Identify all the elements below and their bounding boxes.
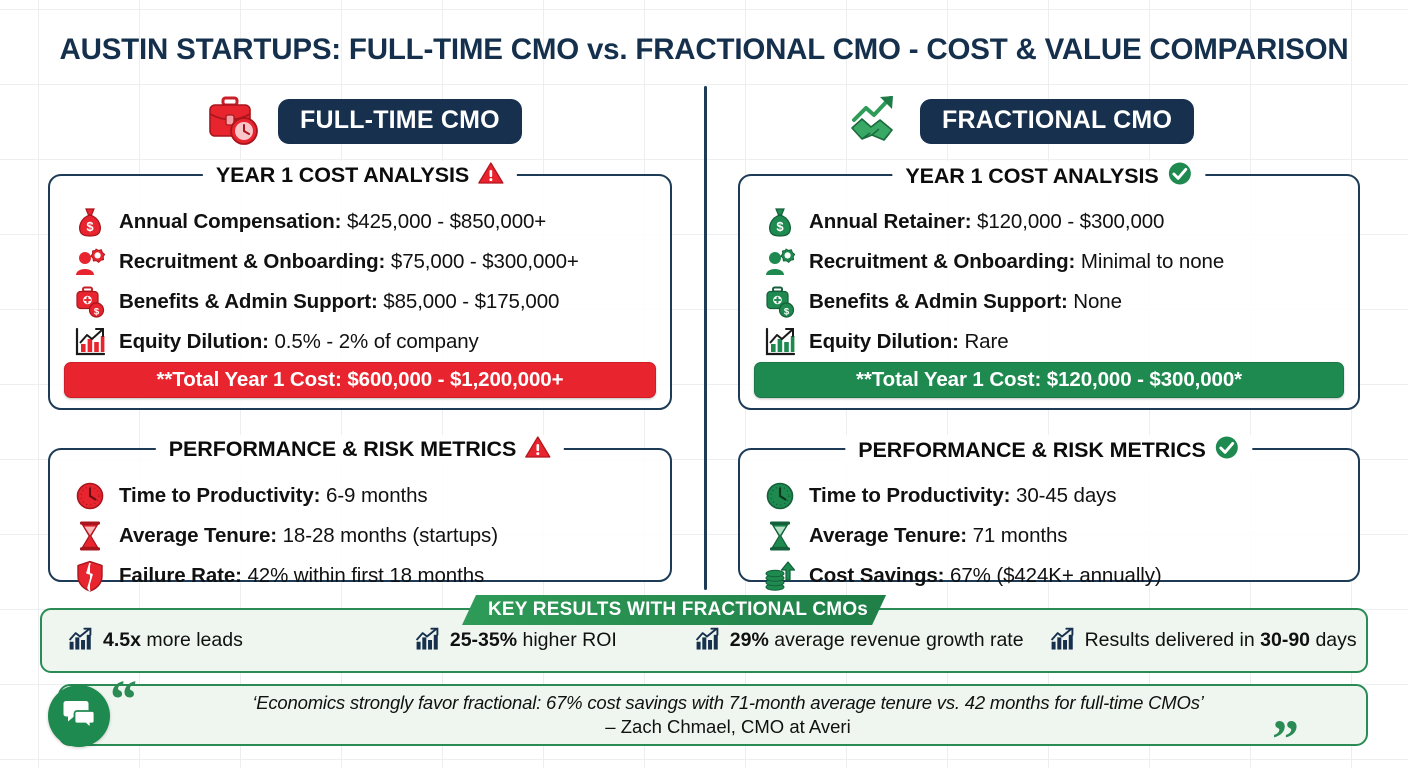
right-cost-analysis-card: YEAR 1 COST ANALYSIS $ Annual Retainer: … bbox=[738, 174, 1360, 410]
list-item-text: Benefits & Admin Support: $85,000 - $175… bbox=[119, 290, 559, 314]
right-total-cost-bar: **Total Year 1 Cost: $120,000 - $300,000… bbox=[754, 362, 1344, 398]
list-item: Average Tenure: 71 months bbox=[740, 516, 1358, 556]
row-value: 18-28 months (startups) bbox=[283, 524, 498, 547]
right-performance-metrics-card: PERFORMANCE & RISK METRICS Time to Produ… bbox=[738, 448, 1360, 582]
key-result-rest: average revenue growth rate bbox=[774, 629, 1023, 651]
list-item-text: Average Tenure: 18-28 months (startups) bbox=[119, 524, 498, 548]
right-cost-legend-text: YEAR 1 COST ANALYSIS bbox=[905, 164, 1158, 189]
key-result-item: 29% average revenue growth rate bbox=[693, 627, 1024, 655]
warning-triangle-icon bbox=[525, 435, 551, 464]
list-item: $ Annual Retainer: $120,000 - $300,000 bbox=[740, 202, 1358, 242]
left-cost-legend: YEAR 1 COST ANALYSIS bbox=[203, 161, 517, 190]
list-item-text: Annual Compensation: $425,000 - $850,000… bbox=[119, 210, 546, 234]
row-label: Average Tenure: bbox=[119, 524, 277, 547]
right-column-header: FRACTIONAL CMO bbox=[846, 94, 1194, 148]
row-label: Time to Productivity: bbox=[809, 484, 1010, 507]
left-cost-analysis-card: YEAR 1 COST ANALYSIS $ Annual Co bbox=[48, 174, 672, 410]
list-item-text: Recruitment & Onboarding: Minimal to non… bbox=[809, 250, 1224, 274]
left-metrics-rows: Time to Productivity: 6-9 months Average… bbox=[50, 450, 670, 596]
money-bag-icon: $ bbox=[763, 205, 797, 239]
clock-icon bbox=[73, 479, 107, 513]
left-total-cost-bar: **Total Year 1 Cost: $600,000 - $1,200,0… bbox=[64, 362, 656, 398]
key-result-item: 4.5x more leads bbox=[66, 627, 243, 655]
row-label: Equity Dilution: bbox=[809, 330, 959, 353]
list-item: Time to Productivity: 6-9 months bbox=[50, 476, 670, 516]
list-item-text: Cost Savings: 67% ($424K+ annually) bbox=[809, 564, 1162, 588]
recruitment-person-gear-icon bbox=[73, 245, 107, 279]
row-value: 30-45 days bbox=[1016, 484, 1116, 507]
list-item: $ Annual Compensation: $425,000 - $850,0… bbox=[50, 202, 670, 242]
handshake-growth-icon bbox=[846, 94, 908, 148]
avatar bbox=[48, 685, 110, 747]
key-result-bold: 30-90 bbox=[1260, 629, 1310, 651]
key-result-bold: 25-35% bbox=[450, 629, 517, 651]
broken-shield-icon bbox=[73, 559, 107, 593]
briefcase-clock-icon bbox=[204, 94, 266, 148]
bar-chart-growth-icon bbox=[413, 627, 441, 655]
key-result-text: 29% average revenue growth rate bbox=[730, 629, 1024, 652]
chat-bubbles-icon bbox=[61, 698, 97, 735]
recruitment-person-gear-icon bbox=[763, 245, 797, 279]
row-value: 71 months bbox=[973, 524, 1068, 547]
row-label: Benefits & Admin Support: bbox=[119, 290, 378, 313]
money-bag-icon: $ bbox=[73, 205, 107, 239]
right-metrics-legend: PERFORMANCE & RISK METRICS bbox=[845, 435, 1252, 465]
badge-fractional-cmo[interactable]: FRACTIONAL CMO bbox=[920, 99, 1194, 144]
bar-chart-growth-icon bbox=[1048, 627, 1076, 655]
page-title: AUSTIN STARTUPS: FULL-TIME CMO vs. FRACT… bbox=[0, 33, 1408, 67]
list-item: Equity Dilution: 0.5% - 2% of company bbox=[50, 322, 670, 362]
hourglass-icon bbox=[763, 519, 797, 553]
key-result-tail: days bbox=[1315, 629, 1356, 651]
row-value: 6-9 months bbox=[326, 484, 428, 507]
benefits-briefcase-coin-icon: $ bbox=[73, 285, 107, 319]
row-value: Minimal to none bbox=[1081, 250, 1224, 273]
row-value: $425,000 - $850,000+ bbox=[347, 210, 546, 233]
row-label: Equity Dilution: bbox=[119, 330, 269, 353]
left-metrics-legend-text: PERFORMANCE & RISK METRICS bbox=[169, 437, 516, 462]
left-column-header: FULL-TIME CMO bbox=[204, 94, 522, 148]
list-item: $ Benefits & Admin Support: $85,000 - $1… bbox=[50, 282, 670, 322]
row-label: Benefits & Admin Support: bbox=[809, 290, 1068, 313]
hourglass-icon bbox=[73, 519, 107, 553]
quote-attribution: – Zach Chmael, CMO at Averi bbox=[146, 716, 1310, 738]
row-label: Recruitment & Onboarding: bbox=[119, 250, 385, 273]
row-value: $75,000 - $300,000+ bbox=[391, 250, 579, 273]
left-metrics-legend: PERFORMANCE & RISK METRICS bbox=[156, 435, 564, 464]
row-label: Time to Productivity: bbox=[119, 484, 320, 507]
key-result-text: Results delivered in 30-90 days bbox=[1085, 629, 1357, 652]
left-cost-rows: $ Annual Compensation: $425,000 - $850,0… bbox=[50, 176, 670, 362]
right-metrics-rows: Time to Productivity: 30-45 days Average… bbox=[740, 450, 1358, 596]
column-divider bbox=[704, 86, 707, 590]
svg-text:$: $ bbox=[94, 306, 100, 317]
bar-chart-growth-icon bbox=[763, 325, 797, 359]
row-label: Average Tenure: bbox=[809, 524, 967, 547]
row-value: Rare bbox=[964, 330, 1008, 353]
svg-text:$: $ bbox=[784, 306, 790, 317]
key-result-rest: more leads bbox=[146, 629, 242, 651]
quote-box: ‘Economics strongly favor fractional: 67… bbox=[58, 684, 1368, 746]
key-results-tab: KEY RESULTS WITH FRACTIONAL CMOs bbox=[462, 595, 886, 625]
list-item-text: Benefits & Admin Support: None bbox=[809, 290, 1122, 314]
list-item-text: Equity Dilution: 0.5% - 2% of company bbox=[119, 330, 479, 354]
list-item-text: Annual Retainer: $120,000 - $300,000 bbox=[809, 210, 1164, 234]
row-value: $85,000 - $175,000 bbox=[383, 290, 559, 313]
warning-triangle-icon bbox=[478, 161, 504, 190]
open-quote-mark: “ bbox=[110, 672, 137, 726]
right-cost-rows: $ Annual Retainer: $120,000 - $300,000 R… bbox=[740, 176, 1358, 362]
list-item: Recruitment & Onboarding: Minimal to non… bbox=[740, 242, 1358, 282]
list-item-text: Time to Productivity: 6-9 months bbox=[119, 484, 428, 508]
right-metrics-legend-text: PERFORMANCE & RISK METRICS bbox=[858, 438, 1205, 463]
row-value: 0.5% - 2% of company bbox=[274, 330, 478, 353]
list-item: $ Benefits & Admin Support: None bbox=[740, 282, 1358, 322]
list-item: Cost Savings: 67% ($424K+ annually) bbox=[740, 556, 1358, 596]
row-label: Cost Savings: bbox=[809, 564, 944, 587]
list-item: Average Tenure: 18-28 months (startups) bbox=[50, 516, 670, 556]
check-circle-icon bbox=[1215, 435, 1240, 465]
list-item: Equity Dilution: Rare bbox=[740, 322, 1358, 362]
key-result-item: Results delivered in 30-90 days bbox=[1048, 627, 1357, 655]
row-value: None bbox=[1073, 290, 1122, 313]
row-value: 42% within first 18 months bbox=[247, 564, 484, 587]
list-item: Time to Productivity: 30-45 days bbox=[740, 476, 1358, 516]
benefits-briefcase-coin-icon: $ bbox=[763, 285, 797, 319]
list-item-text: Average Tenure: 71 months bbox=[809, 524, 1067, 548]
quote-text: ‘Economics strongly favor fractional: 67… bbox=[146, 692, 1310, 714]
list-item-text: Failure Rate: 42% within first 18 months bbox=[119, 564, 484, 588]
badge-full-time-cmo[interactable]: FULL-TIME CMO bbox=[278, 99, 522, 144]
key-result-bold: 29% bbox=[730, 629, 769, 651]
svg-text:$: $ bbox=[776, 219, 784, 234]
key-result-text: 25-35% higher ROI bbox=[450, 629, 617, 652]
infographic-page: AUSTIN STARTUPS: FULL-TIME CMO vs. FRACT… bbox=[0, 0, 1408, 768]
right-cost-legend: YEAR 1 COST ANALYSIS bbox=[892, 161, 1205, 191]
svg-text:$: $ bbox=[86, 219, 94, 234]
clock-icon bbox=[763, 479, 797, 513]
key-result-rest: Results delivered in bbox=[1085, 629, 1255, 651]
list-item: Recruitment & Onboarding: $75,000 - $300… bbox=[50, 242, 670, 282]
key-result-rest: higher ROI bbox=[522, 629, 616, 651]
key-result-item: 25-35% higher ROI bbox=[413, 627, 617, 655]
row-label: Failure Rate: bbox=[119, 564, 242, 587]
bar-chart-growth-icon bbox=[66, 627, 94, 655]
bar-chart-growth-icon bbox=[693, 627, 721, 655]
list-item: Failure Rate: 42% within first 18 months bbox=[50, 556, 670, 596]
close-quote-mark: ” bbox=[1272, 712, 1299, 766]
key-result-text: 4.5x more leads bbox=[103, 629, 243, 652]
row-value: 67% ($424K+ annually) bbox=[950, 564, 1162, 587]
left-cost-legend-text: YEAR 1 COST ANALYSIS bbox=[216, 163, 469, 188]
left-performance-metrics-card: PERFORMANCE & RISK METRICS Time bbox=[48, 448, 672, 582]
list-item-text: Recruitment & Onboarding: $75,000 - $300… bbox=[119, 250, 579, 274]
key-result-bold: 4.5x bbox=[103, 629, 141, 651]
row-label: Recruitment & Onboarding: bbox=[809, 250, 1075, 273]
check-circle-icon bbox=[1168, 161, 1193, 191]
list-item-text: Time to Productivity: 30-45 days bbox=[809, 484, 1116, 508]
row-value: $120,000 - $300,000 bbox=[977, 210, 1164, 233]
list-item-text: Equity Dilution: Rare bbox=[809, 330, 1009, 354]
coins-arrow-up-icon bbox=[763, 559, 797, 593]
bar-chart-growth-icon bbox=[73, 325, 107, 359]
row-label: Annual Compensation: bbox=[119, 210, 341, 233]
row-label: Annual Retainer: bbox=[809, 210, 971, 233]
